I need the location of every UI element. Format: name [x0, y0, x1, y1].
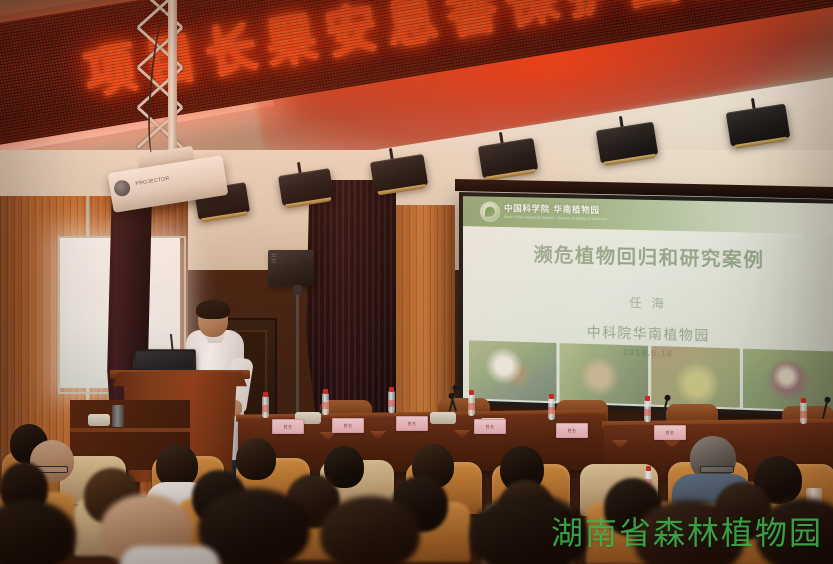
logo-text-en: South China Botanical Garden, Chinese Ac… [504, 216, 607, 221]
wall-speaker-label: HH [272, 252, 278, 263]
slide-photo [559, 343, 647, 404]
name-card: 姓名 [556, 423, 588, 438]
audience-shoulders [120, 546, 220, 564]
conference-hall-photo: 项目长果安息香保护回归技术培训 HH [0, 0, 833, 564]
tea-set [430, 412, 456, 424]
water-bottle [388, 391, 395, 413]
slide-photo [743, 349, 833, 411]
speaker-pole [296, 295, 299, 415]
watermark: 湖南省森林植物园 [551, 508, 823, 554]
leaf-logo-icon [480, 201, 500, 221]
name-card-text: 姓名 [397, 417, 427, 430]
name-card: 姓名 [474, 419, 506, 434]
name-card: 姓名 [396, 416, 428, 431]
thermos [112, 405, 124, 427]
name-card-text: 姓名 [557, 424, 587, 437]
eyeglasses-icon [700, 466, 734, 473]
water-bottle [644, 400, 651, 422]
audience-head [236, 438, 276, 480]
slide-header-band: 中国科学院 华南植物园 South China Botanical Garden… [463, 196, 833, 234]
water-bottle [468, 394, 475, 416]
slide-title: 濒危植物回归和研究案例 [463, 238, 833, 274]
presenter-hair [196, 300, 230, 319]
name-card-text: 姓名 [655, 426, 685, 439]
slide-photo [469, 340, 556, 401]
wall-speaker: HH [268, 250, 314, 286]
botanical-garden-logo: 中国科学院 华南植物园 South China Botanical Garden… [480, 201, 607, 224]
projection-screen: 中国科学院 华南植物园 South China Botanical Garden… [459, 192, 833, 417]
water-bottle [800, 402, 807, 424]
name-card-text: 姓名 [273, 420, 303, 433]
audience-head-foreground [320, 496, 420, 564]
presentation-slide: 中国科学院 华南植物园 South China Botanical Garden… [463, 196, 833, 413]
slide-photo-strip [469, 340, 833, 411]
logo-text-cn: 中国科学院 华南植物园 [504, 205, 607, 216]
water-bottle [322, 393, 329, 415]
name-card: 姓名 [332, 418, 364, 433]
water-bottle [262, 396, 269, 418]
slide-author: 任 海 [463, 289, 833, 317]
name-card: 姓名 [654, 425, 686, 440]
water-bottle [548, 398, 555, 420]
name-card-text: 姓名 [333, 419, 363, 432]
projector-label: PROJECTOR [135, 176, 170, 187]
stage-light [278, 168, 334, 206]
name-card: 姓名 [272, 419, 304, 434]
laptop-screen [136, 351, 193, 368]
tea-set [88, 414, 110, 426]
projector-lens-icon [113, 179, 131, 197]
name-card-text: 姓名 [475, 420, 505, 433]
side-cabinet-shelf [70, 428, 190, 432]
